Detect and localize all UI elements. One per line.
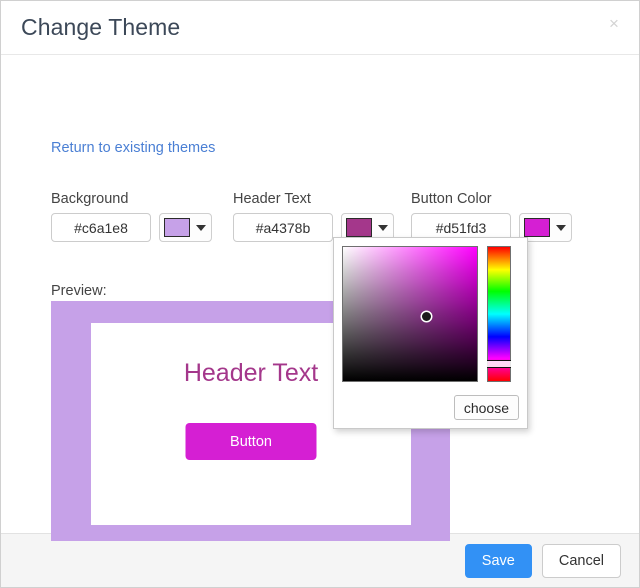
button-color-chip bbox=[524, 218, 550, 237]
return-to-existing-themes-link[interactable]: Return to existing themes bbox=[51, 140, 215, 156]
chevron-down-icon bbox=[378, 225, 388, 231]
field-row-background bbox=[51, 213, 212, 242]
dialog-header: Change Theme × bbox=[1, 1, 639, 55]
background-swatch-button[interactable] bbox=[159, 213, 212, 242]
saturation-value-box[interactable] bbox=[342, 246, 478, 382]
header-text-color-chip bbox=[346, 218, 372, 237]
preview-label: Preview: bbox=[51, 283, 107, 299]
saturation-value-marker[interactable] bbox=[422, 312, 431, 321]
dialog-body: Return to existing themes Background Hea… bbox=[1, 55, 639, 533]
dialog-footer: Save Cancel bbox=[1, 533, 639, 587]
choose-button[interactable]: choose bbox=[454, 395, 519, 420]
background-hex-input[interactable] bbox=[51, 213, 151, 242]
change-theme-dialog: Change Theme × Return to existing themes… bbox=[0, 0, 640, 588]
close-icon[interactable]: × bbox=[605, 15, 623, 33]
chevron-down-icon bbox=[196, 225, 206, 231]
picker-controls bbox=[342, 246, 519, 382]
field-label-header-text: Header Text bbox=[233, 191, 394, 207]
color-picker-popover: choose bbox=[333, 237, 528, 429]
field-group-background: Background bbox=[51, 191, 212, 242]
field-label-background: Background bbox=[51, 191, 212, 207]
field-group-header-text: Header Text bbox=[233, 191, 394, 242]
hue-slider[interactable] bbox=[487, 246, 511, 382]
preview-button[interactable]: Button bbox=[186, 423, 317, 460]
save-button[interactable]: Save bbox=[465, 544, 532, 578]
field-label-button-color: Button Color bbox=[411, 191, 572, 207]
cancel-button[interactable]: Cancel bbox=[542, 544, 621, 578]
background-color-chip bbox=[164, 218, 190, 237]
hue-slider-handle[interactable] bbox=[487, 360, 511, 368]
header-text-hex-input[interactable] bbox=[233, 213, 333, 242]
page-title: Change Theme bbox=[21, 14, 180, 41]
field-group-button-color: Button Color bbox=[411, 191, 572, 242]
chevron-down-icon bbox=[556, 225, 566, 231]
